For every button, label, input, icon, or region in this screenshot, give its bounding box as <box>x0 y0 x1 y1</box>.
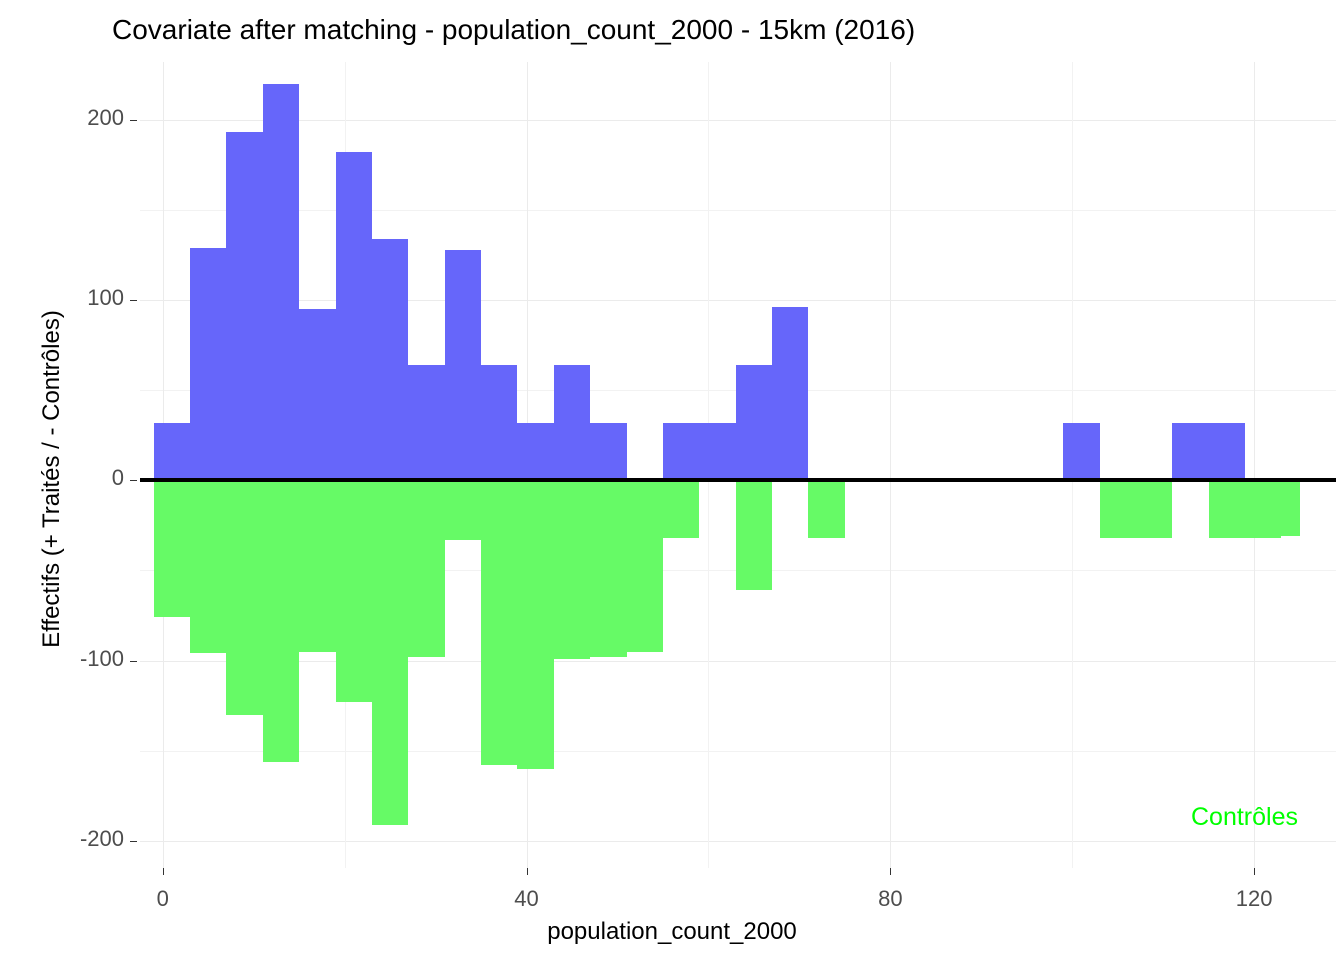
bar-treated <box>372 239 408 481</box>
gridline-vertical <box>890 62 891 868</box>
bar-controls <box>1281 480 1299 536</box>
bar-controls <box>663 480 699 538</box>
bar-treated <box>772 307 808 480</box>
bar-treated <box>336 152 372 480</box>
legend-label-controles: Contrôles <box>1191 803 1298 832</box>
bar-treated <box>554 365 590 480</box>
bar-treated <box>699 423 735 481</box>
bar-controls <box>299 480 335 651</box>
y-axis-title: Effectifs (+ Traités / - Contrôles) <box>38 129 66 829</box>
x-tick-mark <box>163 868 164 875</box>
gridline-horizontal <box>140 120 1336 121</box>
y-tick-mark <box>130 661 137 662</box>
bar-treated <box>190 248 226 481</box>
bar-controls <box>1209 480 1282 538</box>
y-tick-label: -200 <box>0 826 124 852</box>
y-tick-label: 200 <box>0 105 124 131</box>
bar-controls <box>336 480 372 702</box>
gridline-vertical <box>1254 62 1255 868</box>
bar-treated <box>736 365 772 480</box>
bar-controls <box>517 480 553 769</box>
y-tick-mark <box>130 300 137 301</box>
bar-treated <box>590 423 626 481</box>
y-tick-mark <box>130 120 137 121</box>
bar-treated <box>1063 423 1099 481</box>
gridline-horizontal <box>140 300 1336 301</box>
bar-treated <box>299 309 335 480</box>
bar-controls <box>372 480 408 824</box>
bar-treated <box>445 250 481 481</box>
gridline-horizontal <box>140 661 1336 662</box>
gridline-horizontal-minor <box>140 210 1336 211</box>
x-axis-title: population_count_2000 <box>0 918 1344 946</box>
bar-controls <box>590 480 626 657</box>
bar-treated <box>1172 423 1245 481</box>
bar-treated <box>481 365 517 480</box>
chart-root: Covariate after matching - population_co… <box>0 0 1344 960</box>
bar-treated <box>663 423 699 481</box>
bar-controls <box>1100 480 1173 538</box>
x-tick-label: 0 <box>123 886 203 912</box>
bar-treated <box>408 365 444 480</box>
bar-controls <box>190 480 226 653</box>
bar-controls <box>808 480 844 538</box>
gridline-horizontal <box>140 841 1336 842</box>
bar-controls <box>226 480 262 714</box>
x-tick-mark <box>527 868 528 875</box>
chart-title: Covariate after matching - population_co… <box>112 14 915 46</box>
plot-panel: Contrôles <box>140 62 1336 868</box>
zero-reference-line <box>140 478 1336 482</box>
bar-controls <box>408 480 444 657</box>
x-tick-label: 80 <box>850 886 930 912</box>
x-tick-mark <box>890 868 891 875</box>
bar-controls <box>627 480 663 651</box>
bar-treated <box>154 423 190 481</box>
x-tick-mark <box>1254 868 1255 875</box>
y-tick-mark <box>130 841 137 842</box>
bar-controls <box>481 480 517 765</box>
bar-treated <box>517 423 553 481</box>
bar-controls <box>154 480 190 617</box>
gridline-horizontal-minor <box>140 751 1336 752</box>
bar-controls <box>554 480 590 659</box>
bar-treated <box>263 84 299 481</box>
x-tick-label: 120 <box>1214 886 1294 912</box>
y-tick-mark <box>130 480 137 481</box>
bar-controls <box>736 480 772 590</box>
x-tick-label: 40 <box>487 886 567 912</box>
bar-controls <box>445 480 481 540</box>
bar-controls <box>263 480 299 761</box>
bar-treated <box>226 132 262 480</box>
